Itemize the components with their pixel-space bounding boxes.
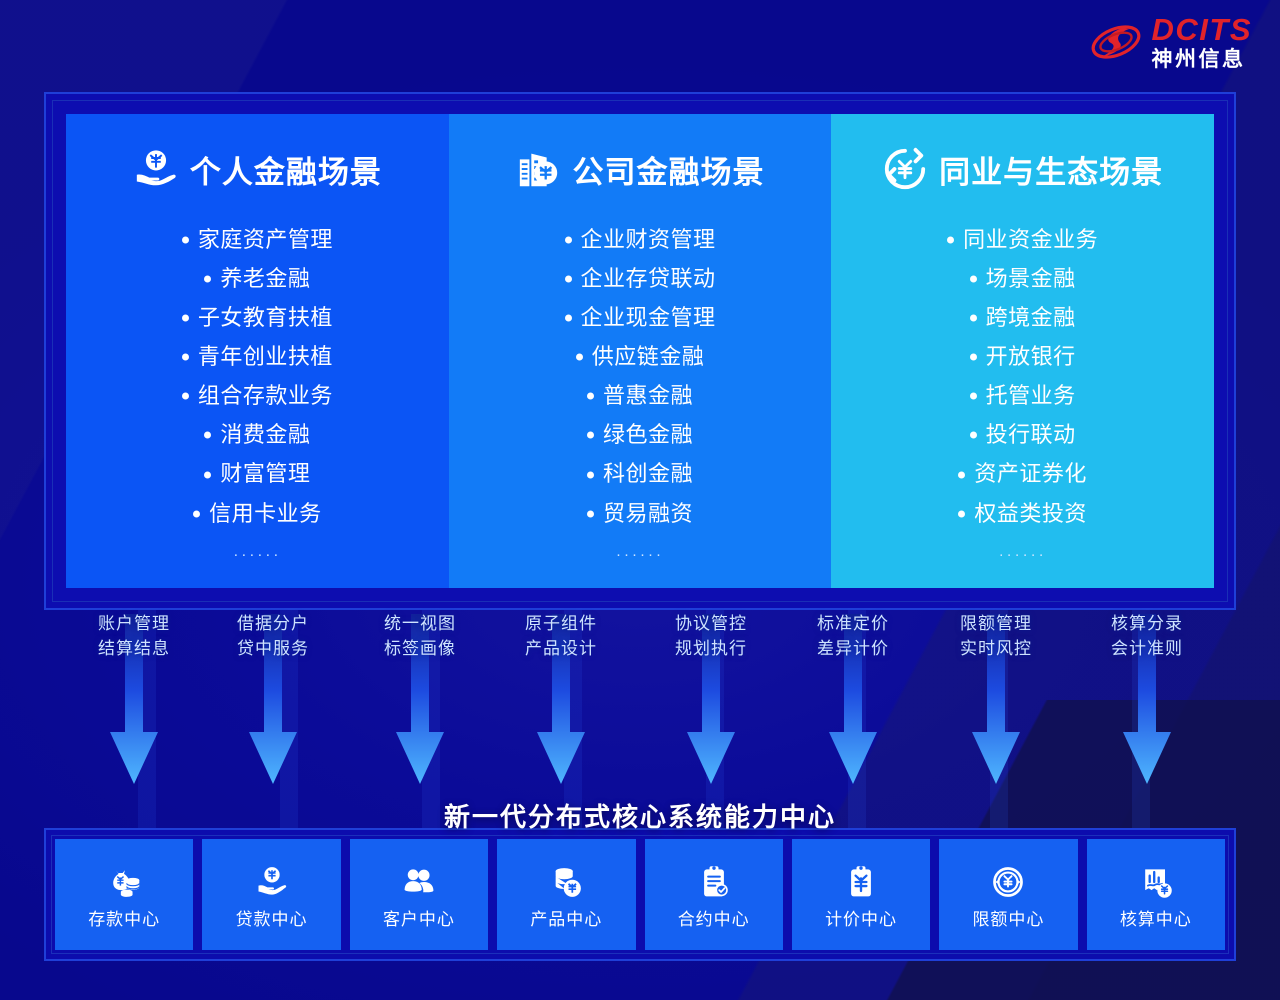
capability-line2: 产品设计 — [486, 637, 636, 662]
core-card-deposit[interactable]: 存款中心 — [55, 839, 193, 950]
core-card-loan[interactable]: 贷款中心 — [202, 839, 340, 950]
circle-yuan-exchange-icon — [882, 146, 928, 192]
core-card-label: 存款中心 — [88, 905, 160, 930]
capability-line1: 原子组件 — [486, 612, 636, 637]
scenario-list-corporate: 企业财资管理 企业存贷联动 企业现金管理 供应链金融 普惠金融 绿色金融 科创金… — [565, 222, 716, 532]
list-item[interactable]: 财富管理 — [204, 456, 310, 492]
list-item[interactable]: 跨境金融 — [970, 300, 1076, 336]
list-item[interactable]: 开放银行 — [970, 339, 1076, 375]
scenario-title-personal: 个人金融场景 — [190, 147, 382, 192]
bar-chart-yuan-icon — [1138, 864, 1174, 900]
capability-item-3[interactable]: 原子组件 产品设计 — [486, 612, 636, 661]
capability-line2: 实时风控 — [921, 637, 1071, 662]
hand-holding-yuan-coin-icon — [254, 864, 290, 900]
list-item[interactable]: 场景金融 — [970, 261, 1076, 297]
list-item[interactable]: 子女教育扶植 — [182, 300, 333, 336]
capability-label-1: 借据分户 贷中服务 — [198, 612, 348, 661]
capability-label-6: 限额管理 实时风控 — [921, 612, 1071, 661]
list-item[interactable]: 同业资金业务 — [947, 222, 1098, 258]
list-item[interactable]: 投行联动 — [970, 417, 1076, 453]
core-card-label: 限额中心 — [972, 905, 1044, 930]
capability-item-0[interactable]: 账户管理 结算结息 — [59, 612, 209, 661]
core-card-label: 客户中心 — [383, 905, 455, 930]
capability-line2: 结算结息 — [59, 637, 209, 662]
scenario-column-interbank[interactable]: 同业与生态场景 同业资金业务 场景金融 跨境金融 开放银行 托管业务 投行联动 … — [831, 114, 1214, 588]
list-item[interactable]: 供应链金融 — [576, 339, 705, 375]
scenario-more-interbank: ······ — [999, 546, 1047, 563]
core-card-label: 产品中心 — [530, 905, 602, 930]
capability-line1: 统一视图 — [345, 612, 495, 637]
core-card-customer[interactable]: 客户中心 — [350, 839, 488, 950]
list-item[interactable]: 绿色金融 — [587, 417, 693, 453]
capability-arrows-band: 账户管理 结算结息 借据分户 贷中服务 — [0, 612, 1280, 804]
list-item[interactable]: 组合存款业务 — [182, 378, 333, 414]
scenario-header-personal: 个人金融场景 — [133, 146, 382, 192]
core-card-contract[interactable]: 合约中心 — [645, 839, 783, 950]
list-item[interactable]: 科创金融 — [587, 456, 693, 492]
capability-label-7: 核算分录 会计准则 — [1072, 612, 1222, 661]
scenario-list-interbank: 同业资金业务 场景金融 跨境金融 开放银行 托管业务 投行联动 资产证券化 权益… — [947, 222, 1098, 532]
list-item[interactable]: 普惠金融 — [587, 378, 693, 414]
core-card-product[interactable]: 产品中心 — [497, 839, 635, 950]
capability-line1: 限额管理 — [921, 612, 1071, 637]
core-card-accounting[interactable]: 核算中心 — [1087, 839, 1225, 950]
scenario-more-personal: ······ — [233, 546, 281, 563]
list-item[interactable]: 企业财资管理 — [565, 222, 716, 258]
capability-item-7[interactable]: 核算分录 会计准则 — [1072, 612, 1222, 661]
capability-line2: 差异计价 — [778, 637, 928, 662]
capability-line1: 账户管理 — [59, 612, 209, 637]
list-item[interactable]: 托管业务 — [970, 378, 1076, 414]
list-item[interactable]: 养老金融 — [204, 261, 310, 297]
capability-line1: 标准定价 — [778, 612, 928, 637]
clipboard-check-icon — [696, 864, 732, 900]
capability-line1: 借据分户 — [198, 612, 348, 637]
scenario-title-interbank: 同业与生态场景 — [939, 147, 1163, 192]
list-item[interactable]: 资产证券化 — [958, 456, 1087, 492]
scenario-header-corporate: 公司金融场景 — [516, 146, 765, 192]
list-item[interactable]: 贸易融资 — [587, 496, 693, 532]
capability-item-4[interactable]: 协议管控 规划执行 — [636, 612, 786, 661]
coin-stack-yuan-icon — [548, 864, 584, 900]
capability-label-0: 账户管理 结算结息 — [59, 612, 209, 661]
capability-label-2: 统一视图 标签画像 — [345, 612, 495, 661]
dcits-swirl-logo-icon — [1089, 16, 1143, 68]
scenario-column-personal[interactable]: 个人金融场景 家庭资产管理 养老金融 子女教育扶植 青年创业扶植 组合存款业务 … — [66, 114, 449, 588]
list-item[interactable]: 权益类投资 — [958, 496, 1087, 532]
capability-item-2[interactable]: 统一视图 标签画像 — [345, 612, 495, 661]
hand-holding-yuan-icon — [133, 146, 179, 192]
scenarios-panel: 个人金融场景 家庭资产管理 养老金融 子女教育扶植 青年创业扶植 组合存款业务 … — [44, 92, 1236, 610]
buildings-yuan-icon — [516, 146, 562, 192]
list-item[interactable]: 企业存贷联动 — [565, 261, 716, 297]
list-item[interactable]: 消费金融 — [204, 417, 310, 453]
capability-label-3: 原子组件 产品设计 — [486, 612, 636, 661]
capability-line2: 会计准则 — [1072, 637, 1222, 662]
scenario-header-interbank: 同业与生态场景 — [882, 146, 1163, 192]
capability-item-6[interactable]: 限额管理 实时风控 — [921, 612, 1071, 661]
core-card-label: 核算中心 — [1120, 905, 1192, 930]
core-platform-title: 新一代分布式核心系统能力中心 — [0, 797, 1280, 834]
scenario-title-corporate: 公司金融场景 — [573, 147, 765, 192]
brand-name-en: DCITS — [1152, 14, 1253, 45]
core-platform-panel: 存款中心 贷款中心 客户中心 — [44, 828, 1236, 961]
core-card-label: 贷款中心 — [236, 905, 308, 930]
list-item[interactable]: 家庭资产管理 — [182, 222, 333, 258]
list-item[interactable]: 信用卡业务 — [193, 496, 322, 532]
list-item[interactable]: 青年创业扶植 — [182, 339, 333, 375]
list-item[interactable]: 企业现金管理 — [565, 300, 716, 336]
circle-yuan-arrows-icon — [990, 864, 1026, 900]
scenario-list-personal: 家庭资产管理 养老金融 子女教育扶植 青年创业扶植 组合存款业务 消费金融 财富… — [182, 222, 333, 532]
capability-label-5: 标准定价 差异计价 — [778, 612, 928, 661]
capability-item-5[interactable]: 标准定价 差异计价 — [778, 612, 928, 661]
capability-line1: 核算分录 — [1072, 612, 1222, 637]
capability-label-4: 协议管控 规划执行 — [636, 612, 786, 661]
capability-line2: 贷中服务 — [198, 637, 348, 662]
clipboard-yuan-icon — [843, 864, 879, 900]
money-bag-coins-icon — [106, 864, 142, 900]
scenario-column-corporate[interactable]: 公司金融场景 企业财资管理 企业存贷联动 企业现金管理 供应链金融 普惠金融 绿… — [449, 114, 832, 588]
brand-name-cn: 神州信息 — [1152, 49, 1253, 70]
core-card-label: 合约中心 — [678, 905, 750, 930]
scenario-more-corporate: ······ — [616, 546, 664, 563]
capability-line2: 标签画像 — [345, 637, 495, 662]
core-card-limit[interactable]: 限额中心 — [939, 839, 1077, 950]
capability-line2: 规划执行 — [636, 637, 786, 662]
brand-logo: DCITS 神州信息 — [1089, 14, 1253, 70]
core-card-label: 计价中心 — [825, 905, 897, 930]
core-card-pricing[interactable]: 计价中心 — [792, 839, 930, 950]
capability-item-1[interactable]: 借据分户 贷中服务 — [198, 612, 348, 661]
users-group-icon — [401, 864, 437, 900]
capability-line1: 协议管控 — [636, 612, 786, 637]
